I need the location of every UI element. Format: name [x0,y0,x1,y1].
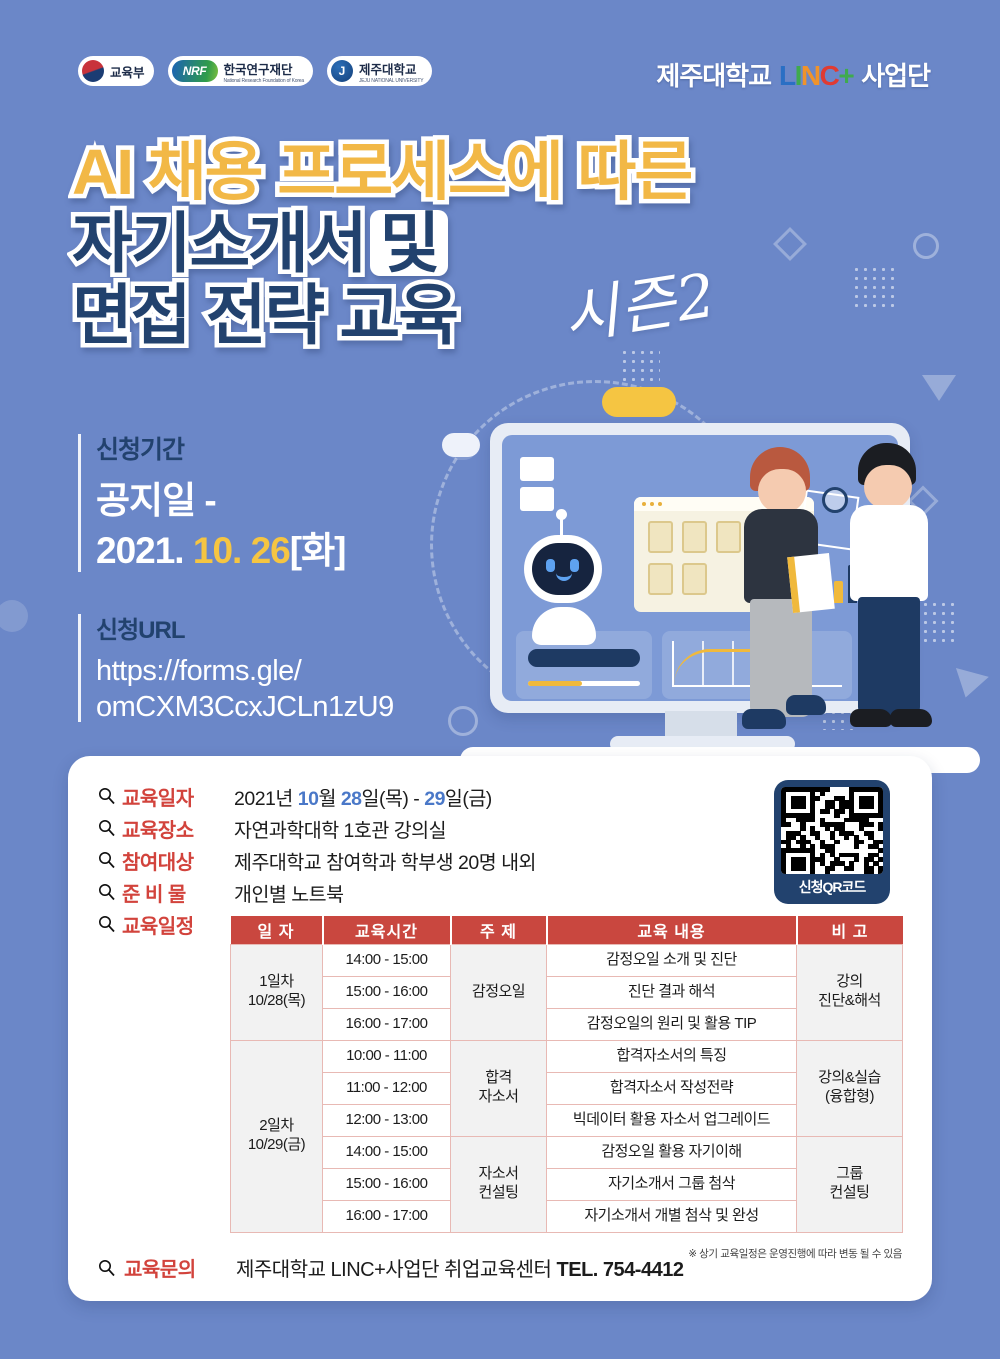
title-line-2-text: 자기소개서 [72,206,366,280]
cell-topic: 자소서컨설팅 [451,1136,547,1232]
apply-url-line1[interactable]: https://forms.gle/ [96,653,394,689]
apply-period-line2: 2021. 10. 26[화] [96,526,345,576]
apply-period-block: 신청기간 공지일 - 2021. 10. 26[화] [78,430,345,576]
info-value-materials: 개인별 노트북 [234,878,344,907]
document-card-icon [648,563,673,595]
monitor-stand [665,711,737,739]
magnifier-icon [98,787,120,805]
cell-time: 14:00 - 15:00 [323,1136,451,1168]
logo-label-nrf: 한국연구재단 National Research Foundation of K… [224,59,304,84]
table-header-row: 일 자 교육시간 주 제 교육 내용 비 고 [231,916,903,944]
info-row-audience: 참여대상 제주대학교 참여학과 학부생 20명 내외 [98,844,536,876]
cell-remark: 그룹컨설팅 [797,1136,903,1232]
info-value-location: 자연과학대학 1호관 강의실 [234,814,446,843]
deco-dot-icon [0,600,28,632]
info-label-date: 교육일자 [122,782,234,811]
cell-topic: 감정오일 [451,944,547,1040]
title-badge-mit: 및 [370,210,449,276]
th-content: 교육 내용 [547,916,797,944]
speech-bubble-yellow-icon [602,387,676,417]
speech-bubble-white-icon [442,433,480,457]
logo-ministry-of-education: 교육부 [78,56,154,86]
sponsor-logos: 교육부 NRF 한국연구재단 National Research Foundat… [78,56,432,86]
info-label-materials: 준 비 물 [122,878,234,907]
table-row: 1일차10/28(목)14:00 - 15:00감정오일감정오일 소개 및 진단… [231,944,903,976]
person-observer [838,443,942,749]
cell-content: 합격자소서의 특징 [547,1040,797,1072]
robot-smile-icon [556,573,572,581]
magnifier-icon [98,819,120,837]
apply-date-weekday: [화] [290,530,346,571]
window-dot-icon [658,502,662,506]
apply-date-year: 2021. [96,530,184,571]
th-topic: 주 제 [451,916,547,944]
window-dot-icon [642,502,646,506]
person-notebook-icon [787,553,835,613]
magnifier-icon [98,851,120,869]
cell-date: 1일차10/28(목) [231,944,323,1040]
waveform-icon [528,649,640,667]
apply-period-line1: 공지일 - [96,476,345,526]
title-line-1: AI 채용 프로세스에 따른 [72,140,691,204]
contact-label: 교육문의 [124,1253,236,1282]
cell-remark: 강의&실습(융합형) [797,1040,903,1136]
th-time: 교육시간 [323,916,451,944]
cell-time: 10:00 - 11:00 [323,1040,451,1072]
linc-brand: 제주대학교 LINC+ 사업단 [656,56,930,93]
brand-suffix: 사업단 [861,56,930,93]
apply-date-highlight: 10. 26 [193,530,290,571]
date-year-text: 2021년 [234,788,298,810]
person-top-icon [850,505,928,601]
linc-letter-n: N [801,60,820,91]
waveform-panel [516,631,652,699]
cell-content: 진단 결과 해석 [547,976,797,1008]
info-label-audience: 참여대상 [122,846,234,875]
taegeuk-icon [82,60,104,82]
th-remark: 비 고 [797,916,903,944]
qr-code-label: 신청QR코드 [799,877,866,897]
logo-sublabel-jnu: JEJU NATIONAL UNIVERSITY [359,78,423,84]
apply-url-block: 신청URL https://forms.gle/ omCXM3CcxJCLn1z… [78,610,394,726]
robot-eye-left [546,559,555,572]
robot-head-icon [532,543,594,595]
linc-letter-c: C [820,60,839,91]
info-value-audience: 제주대학교 참여학과 학부생 20명 내외 [234,846,536,875]
cell-date: 2일차10/29(금) [231,1040,323,1232]
logo-label-moe: 교육부 [110,62,145,81]
date-day-2: 29 [424,788,445,810]
info-card: 교육일자 2021년 10월 28일(목) - 29일(금) 교육장소 자연과학… [68,756,932,1301]
deco-square-icon [773,227,807,261]
apply-period-label: 신청기간 [96,430,345,466]
contact-tel: TEL. 754-4412 [557,1259,684,1281]
logo-nrf: NRF 한국연구재단 National Research Foundation … [168,56,313,86]
person-face-icon [758,469,806,513]
robot-antenna-icon [560,515,563,537]
date-day-1: 28 [341,788,362,810]
cell-content: 감정오일의 원리 및 활용 TIP [547,1008,797,1040]
logo-sublabel-nrf: National Research Foundation of Korea [224,78,304,84]
person-pants-icon [858,597,920,717]
cell-content: 빅데이터 활용 자소서 업그레이드 [547,1104,797,1136]
folder-icon [520,487,554,511]
cell-content: 감정오일 활용 자기이해 [547,1136,797,1168]
table-row: 14:00 - 15:00자소서컨설팅감정오일 활용 자기이해그룹컨설팅 [231,1136,903,1168]
deco-circle-icon [913,233,939,259]
date-month-unit: 월 [318,788,340,810]
person-shoe-icon [890,709,932,727]
person-face-icon [864,465,912,509]
magnifier-icon [98,915,120,933]
cell-time: 14:00 - 15:00 [323,944,451,976]
hero-illustration [470,395,970,785]
waveform-progress [528,681,582,686]
info-row-materials: 준 비 물 개인별 노트북 [98,876,536,908]
deco-dotgrid-icon [852,265,898,311]
schedule-table-body: 1일차10/28(목)14:00 - 15:00감정오일감정오일 소개 및 진단… [231,944,903,1232]
person-shoe-icon [742,709,786,729]
cell-content: 감정오일 소개 및 진단 [547,944,797,976]
date-month: 10 [298,788,319,810]
qr-code-box[interactable]: 신청QR코드 [774,780,890,904]
info-label-location: 교육장소 [122,814,234,843]
date-sep: 일(목) - [362,788,425,810]
window-dot-icon [650,502,654,506]
robot-eye-right [570,559,579,572]
cell-time: 16:00 - 17:00 [323,1008,451,1040]
table-row: 2일차10/29(금)10:00 - 11:00합격자소서합격자소서의 특징강의… [231,1040,903,1072]
header-bar: 교육부 NRF 한국연구재단 National Research Foundat… [0,56,1000,110]
document-card-icon [682,521,707,553]
cell-time: 11:00 - 12:00 [323,1072,451,1104]
date-day-2-unit: 일(금) [445,788,492,810]
info-row-date: 교육일자 2021년 10월 28일(목) - 29일(금) [98,780,536,812]
magnifier-icon [98,1259,120,1277]
cell-content: 합격자소서 작성전략 [547,1072,797,1104]
cell-remark: 강의진단&해석 [797,944,903,1040]
logo-jeju-national-university: J 제주대학교 JEJU NATIONAL UNIVERSITY [327,56,432,86]
person-presenter [728,447,838,747]
logo-label-jnu-kr: 제주대학교 [359,63,417,77]
nrf-icon: NRF [172,60,218,82]
cell-topic: 합격자소서 [451,1040,547,1136]
person-shoe-icon [850,709,892,727]
info-value-date: 2021년 10월 28일(목) - 29일(금) [234,782,492,811]
person-shoe-icon [786,695,826,715]
cell-content: 자기소개서 개별 첨삭 및 완성 [547,1200,797,1232]
info-label-schedule: 교육일정 [122,910,234,939]
contact-value: 제주대학교 LINC+사업단 취업교육센터 TEL. 754-4412 [236,1253,683,1282]
th-date: 일 자 [231,916,323,944]
linc-plus-logo: LINC+ [779,60,853,92]
schedule-table: 일 자 교육시간 주 제 교육 내용 비 고 1일차10/28(목)14:00 … [230,916,903,1233]
info-row-location: 교육장소 자연과학대학 1호관 강의실 [98,812,536,844]
jnu-icon: J [331,60,353,82]
brand-prefix: 제주대학교 [656,56,771,93]
cell-time: 15:00 - 16:00 [323,1168,451,1200]
logo-label-jnu: 제주대학교 JEJU NATIONAL UNIVERSITY [359,59,423,84]
apply-url-line2[interactable]: omCXM3CcxJCLn1zU9 [96,689,394,725]
apply-url-label: 신청URL [96,610,394,645]
qr-code-image[interactable] [781,787,883,874]
document-card-icon [682,563,707,595]
linc-letter-l: L [779,60,795,91]
logo-label-nrf-kr: 한국연구재단 [224,63,293,77]
document-card-icon [648,521,673,553]
schedule-table-wrap: 일 자 교육시간 주 제 교육 내용 비 고 1일차10/28(목)14:00 … [230,916,902,1233]
linc-letter-plus: + [838,60,853,91]
cell-content: 자기소개서 그룹 첨삭 [547,1168,797,1200]
cell-time: 12:00 - 13:00 [323,1104,451,1136]
schedule-note: ※ 상기 교육일정은 운영진행에 따라 변동 될 수 있음 [688,1246,902,1261]
folder-icon [520,457,554,481]
magnifier-icon [98,883,120,901]
contact-row: 교육문의 제주대학교 LINC+사업단 취업교육센터 TEL. 754-4412 [98,1253,683,1282]
contact-org: 제주대학교 LINC+사업단 취업교육센터 [236,1259,557,1281]
cell-time: 16:00 - 17:00 [323,1200,451,1232]
cell-time: 15:00 - 16:00 [323,976,451,1008]
